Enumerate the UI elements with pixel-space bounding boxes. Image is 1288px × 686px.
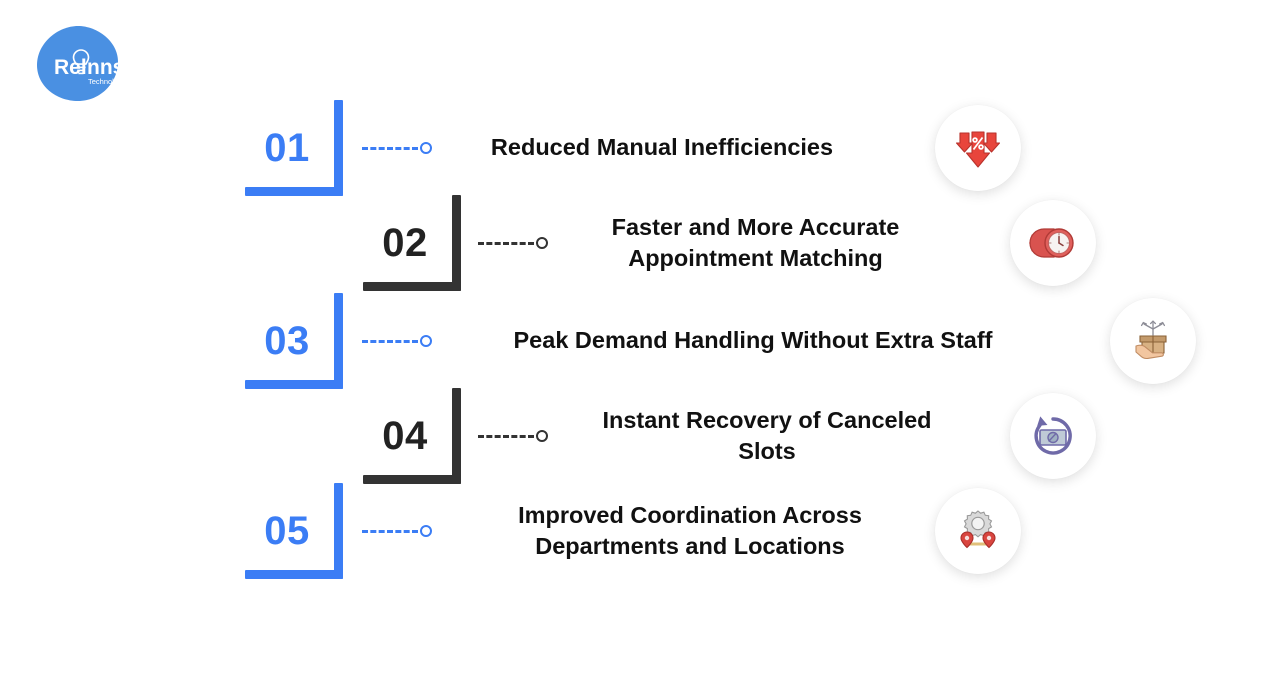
- connector-dash: [362, 147, 418, 150]
- dashed-connector: [362, 100, 444, 196]
- step-number: 03: [245, 293, 329, 389]
- bracket-vertical-bar: [452, 195, 461, 291]
- step-label: Reduced Manual Inefficiencies: [462, 100, 862, 196]
- list-item: 02 Faster and More Accurate Appointment …: [0, 195, 1288, 291]
- dashed-connector: [362, 293, 444, 389]
- connector-dot: [536, 430, 548, 442]
- list-item: 04 Instant Recovery of Canceled Slots: [0, 388, 1288, 484]
- step-label: Instant Recovery of Canceled Slots: [578, 388, 956, 484]
- list-item: 05 Improved Coordination Across Departme…: [0, 483, 1288, 579]
- step-label: Improved Coordination Across Departments…: [470, 483, 910, 579]
- step-icon-badge: [1010, 200, 1096, 286]
- money-refresh-icon: [1028, 411, 1078, 461]
- declining-percentage-arrows-icon: [953, 123, 1003, 173]
- step-number: 01: [245, 100, 329, 196]
- connector-dot: [420, 142, 432, 154]
- brand-logo[interactable]: Rel nns Technologies: [34, 24, 120, 104]
- step-icon-badge: [935, 105, 1021, 191]
- fast-clock-icon: [1028, 218, 1078, 268]
- step-number: 02: [363, 195, 447, 291]
- connector-dash: [478, 435, 534, 438]
- hand-holding-box-icon: [1128, 316, 1178, 366]
- step-number: 05: [245, 483, 329, 579]
- svg-text:Technologies: Technologies: [88, 77, 120, 86]
- connector-dot: [536, 237, 548, 249]
- dashed-connector: [478, 195, 560, 291]
- step-label: Faster and More Accurate Appointment Mat…: [578, 195, 933, 291]
- step-label: Peak Demand Handling Without Extra Staff: [462, 293, 1044, 389]
- list-item: 01 Reduced Manual Inefficiencies: [0, 100, 1288, 196]
- svg-text:nns: nns: [87, 56, 120, 79]
- connector-dot: [420, 525, 432, 537]
- gear-location-pins-icon: [953, 506, 1003, 556]
- list-item: 03 Peak Demand Handling Without Extra St…: [0, 293, 1288, 389]
- dashed-connector: [478, 388, 560, 484]
- bracket-vertical-bar: [334, 293, 343, 389]
- step-icon-badge: [1110, 298, 1196, 384]
- dashed-connector: [362, 483, 444, 579]
- connector-dash: [362, 530, 418, 533]
- bracket-vertical-bar: [334, 483, 343, 579]
- bracket-vertical-bar: [452, 388, 461, 484]
- connector-dot: [420, 335, 432, 347]
- bracket-vertical-bar: [334, 100, 343, 196]
- step-icon-badge: [1010, 393, 1096, 479]
- step-icon-badge: [935, 488, 1021, 574]
- connector-dash: [478, 242, 534, 245]
- step-number: 04: [363, 388, 447, 484]
- connector-dash: [362, 340, 418, 343]
